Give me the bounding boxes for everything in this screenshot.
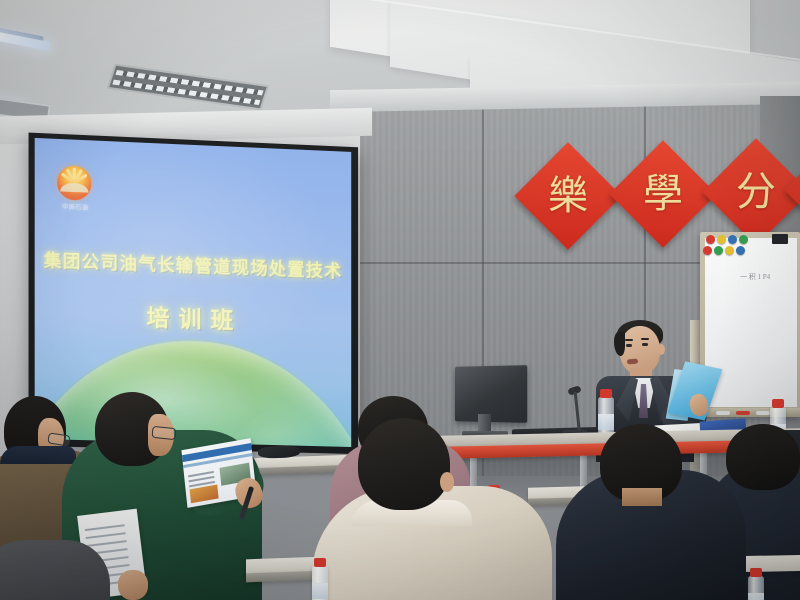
banner-char-2: 學 xyxy=(625,156,701,232)
slide-subtitle: 培训班 xyxy=(35,294,352,339)
banner-char-3: 分 xyxy=(718,154,794,230)
magnet-icon-green-2 xyxy=(714,246,723,255)
marker-icon-red xyxy=(736,411,750,415)
petrochina-logo-caption: 中国石油 xyxy=(47,201,104,212)
banner-char-1: 樂 xyxy=(530,158,606,234)
magnet-icon-green-1 xyxy=(739,235,748,244)
presenter-brow-right xyxy=(641,338,649,340)
magnet-icon-blue-1 xyxy=(728,235,737,244)
presenter-eye-left xyxy=(626,344,632,347)
wall-banner-le: 樂 xyxy=(514,142,621,249)
magnet-icon-red-1 xyxy=(706,235,715,244)
attendee-right-navy-head xyxy=(726,424,800,490)
whiteboard-note: 一 积 1 P4 xyxy=(740,272,796,283)
attendee-navy-suit-neck xyxy=(622,488,662,506)
attendee-cream-jacket-head xyxy=(358,418,450,510)
magnet-icon-yellow-1 xyxy=(717,235,726,244)
glasses-icon-2 xyxy=(151,426,176,440)
slide-title: 集团公司油气长输管道现场处置技术 xyxy=(35,247,352,284)
monitor xyxy=(455,365,527,423)
water-bottle-3 xyxy=(312,566,328,600)
whiteboard-surface xyxy=(705,238,797,407)
magnet-icon-yellow-2 xyxy=(725,246,734,255)
photo-scene: 樂 學 分 享 一 积 1 P4 xyxy=(0,0,800,600)
marker-icon-white xyxy=(716,411,730,415)
projection-screen: 中国石油 集团公司油气长输管道现场处置技术 培训班 xyxy=(29,133,359,455)
magnet-icon-red-2 xyxy=(703,246,712,255)
presenter-mouth xyxy=(627,359,638,365)
presenter-hair-side xyxy=(614,332,625,356)
presenter-head xyxy=(620,326,660,374)
presenter-brow-left xyxy=(625,339,633,341)
presenter-ear xyxy=(658,344,665,355)
projection-screen-surface: 中国石油 集团公司油气长输管道现场处置技术 培训班 xyxy=(35,138,352,447)
binder-clip-icon xyxy=(772,234,788,244)
attendee-gray-hand xyxy=(118,570,148,600)
attendee-brown-jacket-collar xyxy=(0,446,76,464)
marker-icon-white-2 xyxy=(756,411,770,415)
petrochina-sun-logo-icon xyxy=(57,165,91,201)
attendee-cream-ear xyxy=(440,472,454,492)
water-bottle-5 xyxy=(748,576,764,600)
presenter-eye-right xyxy=(642,343,648,346)
magnet-icon-blue-2 xyxy=(736,246,745,255)
attendee-gray-foreground xyxy=(0,540,110,600)
